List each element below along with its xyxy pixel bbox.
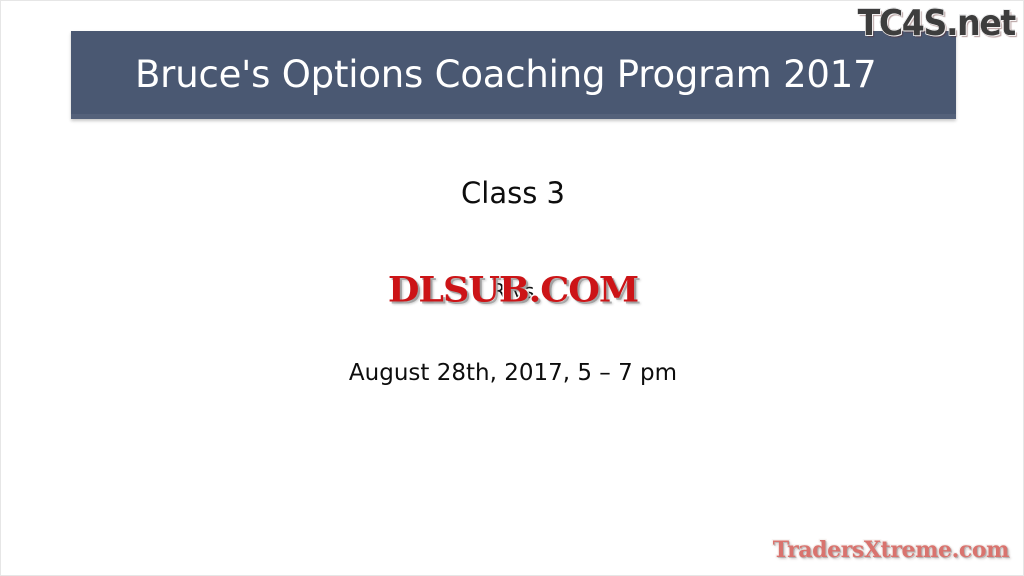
slide-subtitle-class: Class 3 [1, 179, 1024, 208]
slide-topic-row: R ys DLSUB.COM [1, 274, 1024, 308]
slide-date-line: August 28th, 2017, 5 – 7 pm [1, 362, 1024, 385]
slide-body: Class 3 R ys DLSUB.COM August 28th, 2017… [1, 161, 1024, 385]
slide-topic-line: R ys [492, 274, 535, 308]
presentation-slide: Bruce's Options Coaching Program 2017 Cl… [0, 0, 1024, 576]
slide-title-bar: Bruce's Options Coaching Program 2017 [71, 31, 956, 119]
page-title: Bruce's Options Coaching Program 2017 [135, 56, 876, 95]
tradersxtreme-watermark: TradersXtreme.com [773, 537, 1009, 563]
